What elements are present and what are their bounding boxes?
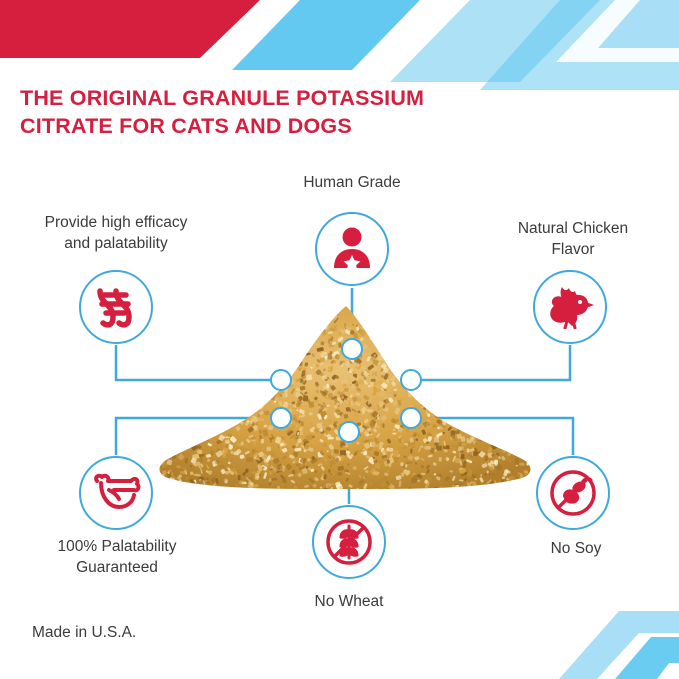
connector-node-right-lower [400,407,422,429]
granule-pile-image [150,300,540,490]
feature-label-human-grade: Human Grade [262,172,442,193]
no-soy-icon [549,469,597,517]
connector-node-bottom [338,421,360,443]
feature-label-efficacy: Provide high efficacy and palatability [16,212,216,254]
feature-icon-no-soy[interactable] [536,456,610,530]
product-infographic: THE ORIGINAL GRANULE POTASSIUM CITRATE F… [0,0,679,679]
feature-label-no-soy: No Soy [506,538,646,559]
feature-label-palatability: 100% Palatability Guaranteed [22,536,212,578]
connector-node-right-upper [400,369,422,391]
connector-node-top [341,338,363,360]
feature-icon-chicken[interactable] [533,270,607,344]
feature-icon-efficacy[interactable] [79,270,153,344]
no-wheat-icon [325,518,373,566]
feature-icon-no-wheat[interactable] [312,505,386,579]
feature-icon-human-grade[interactable] [315,212,389,286]
dna-helix-icon [93,286,139,328]
connector-node-left-lower [270,407,292,429]
baby-icon [330,226,374,272]
feature-label-chicken: Natural Chicken Flavor [483,218,663,260]
rooster-icon [545,285,595,329]
dog-bone-icon [91,473,141,513]
made-in-usa-label: Made in U.S.A. [32,624,136,642]
connector-node-left-upper [270,369,292,391]
feature-label-no-wheat: No Wheat [279,591,419,612]
feature-icon-palatability[interactable] [79,456,153,530]
